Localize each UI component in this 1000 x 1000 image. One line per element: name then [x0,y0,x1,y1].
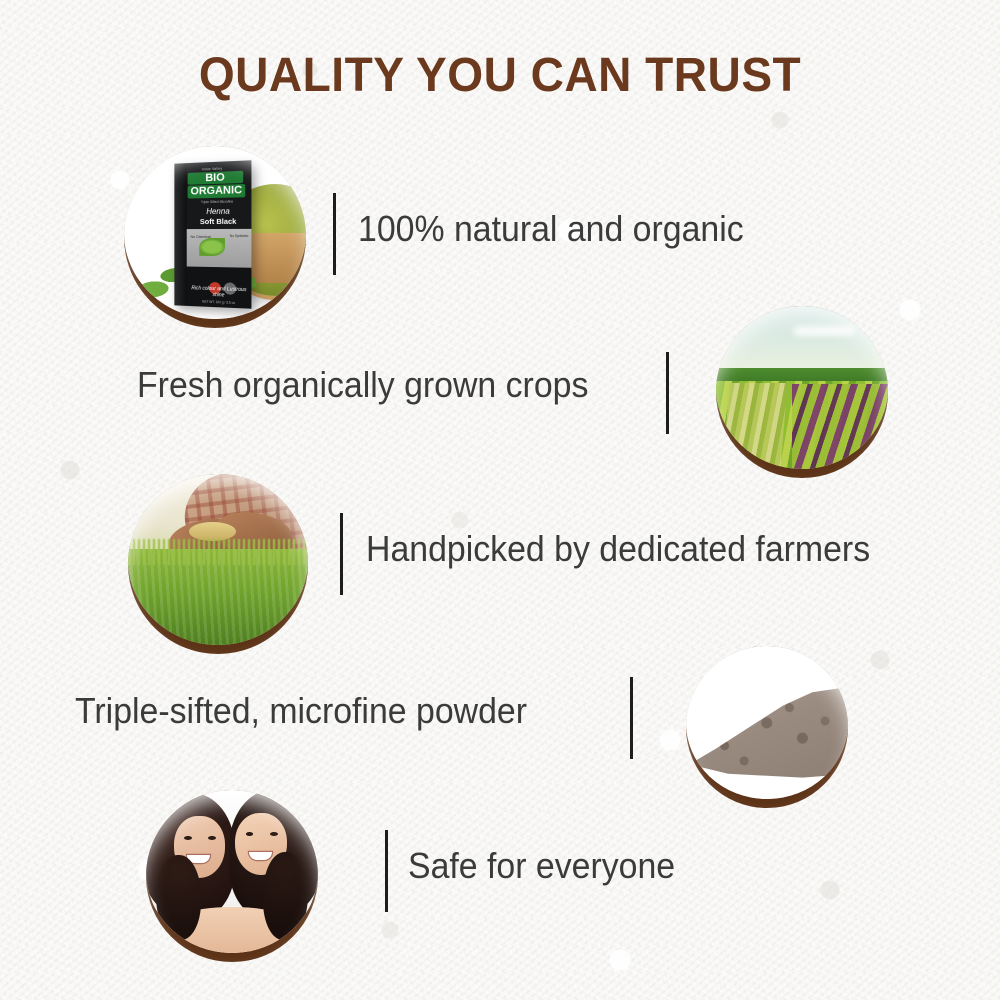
divider-bar-2 [666,352,669,434]
photo-inner-farmer [128,474,308,645]
woman-right-hair-front [263,852,308,940]
field-cloud [793,326,855,336]
field-purple-rows [792,384,888,469]
box-side-panel [174,163,186,306]
quality-infographic: QUALITY YOU CAN TRUST Indus Valley BIO O… [0,0,1000,1000]
woman-left-eye-2 [208,836,216,840]
box-bio-label: BIO [188,170,244,184]
grain-in-hands [189,522,236,541]
feature-text-fresh-crops: Fresh organically grown crops [137,364,588,406]
two-smiling-women-photo [146,790,318,962]
box-bottom-panel: Rich colour and Lustrous shine NET WT. 1… [187,266,252,309]
box-tagline: Triple Sifted Microfine [188,199,248,204]
box-claim-right: No Synthetic [230,233,248,238]
divider-bar-1 [333,193,336,275]
bio-organic-henna-product-box-photo: Indus Valley BIO ORGANIC Triple Sifted M… [124,146,306,328]
woman-left-hair-front [156,855,201,940]
page-title: QUALITY YOU CAN TRUST [20,48,980,103]
divider-bar-5 [385,830,388,912]
box-product-name: Henna [188,206,250,216]
divider-bar-3 [340,513,343,595]
divider-bar-4 [630,677,633,759]
photo-inner-powder [686,646,848,799]
box-net-weight: NET WT. 100 g / 3.5 oz [187,299,252,306]
photo-inner-product: Indus Valley BIO ORGANIC Triple Sifted M… [124,146,306,319]
box-bottom-claim: Rich colour and Lustrous shine [187,285,252,299]
photo-inner-crops [716,306,888,469]
box-organic-label: ORGANIC [188,184,246,199]
product-scene: Indus Valley BIO ORGANIC Triple Sifted M… [124,146,306,319]
box-shade-name: Soft Black [188,216,250,226]
field-sky [716,306,888,371]
feature-text-microfine-powder: Triple-sifted, microfine powder [75,690,527,732]
feature-text-safe-everyone: Safe for everyone [408,845,675,887]
product-box: Indus Valley BIO ORGANIC Triple Sifted M… [174,160,251,309]
field-track-path [723,383,789,469]
henna-powder-heap-photo [686,646,848,808]
box-leaf-icon [199,237,225,255]
feature-text-handpicked: Handpicked by dedicated farmers [366,528,870,570]
woman-left-eye-1 [184,836,192,840]
organic-crop-field-photo [716,306,888,478]
photo-inner-women [146,790,318,953]
farm-grass-field [128,549,308,645]
feature-text-natural-organic: 100% natural and organic [358,208,744,250]
farmer-hands-holding-crop-photo [128,474,308,654]
